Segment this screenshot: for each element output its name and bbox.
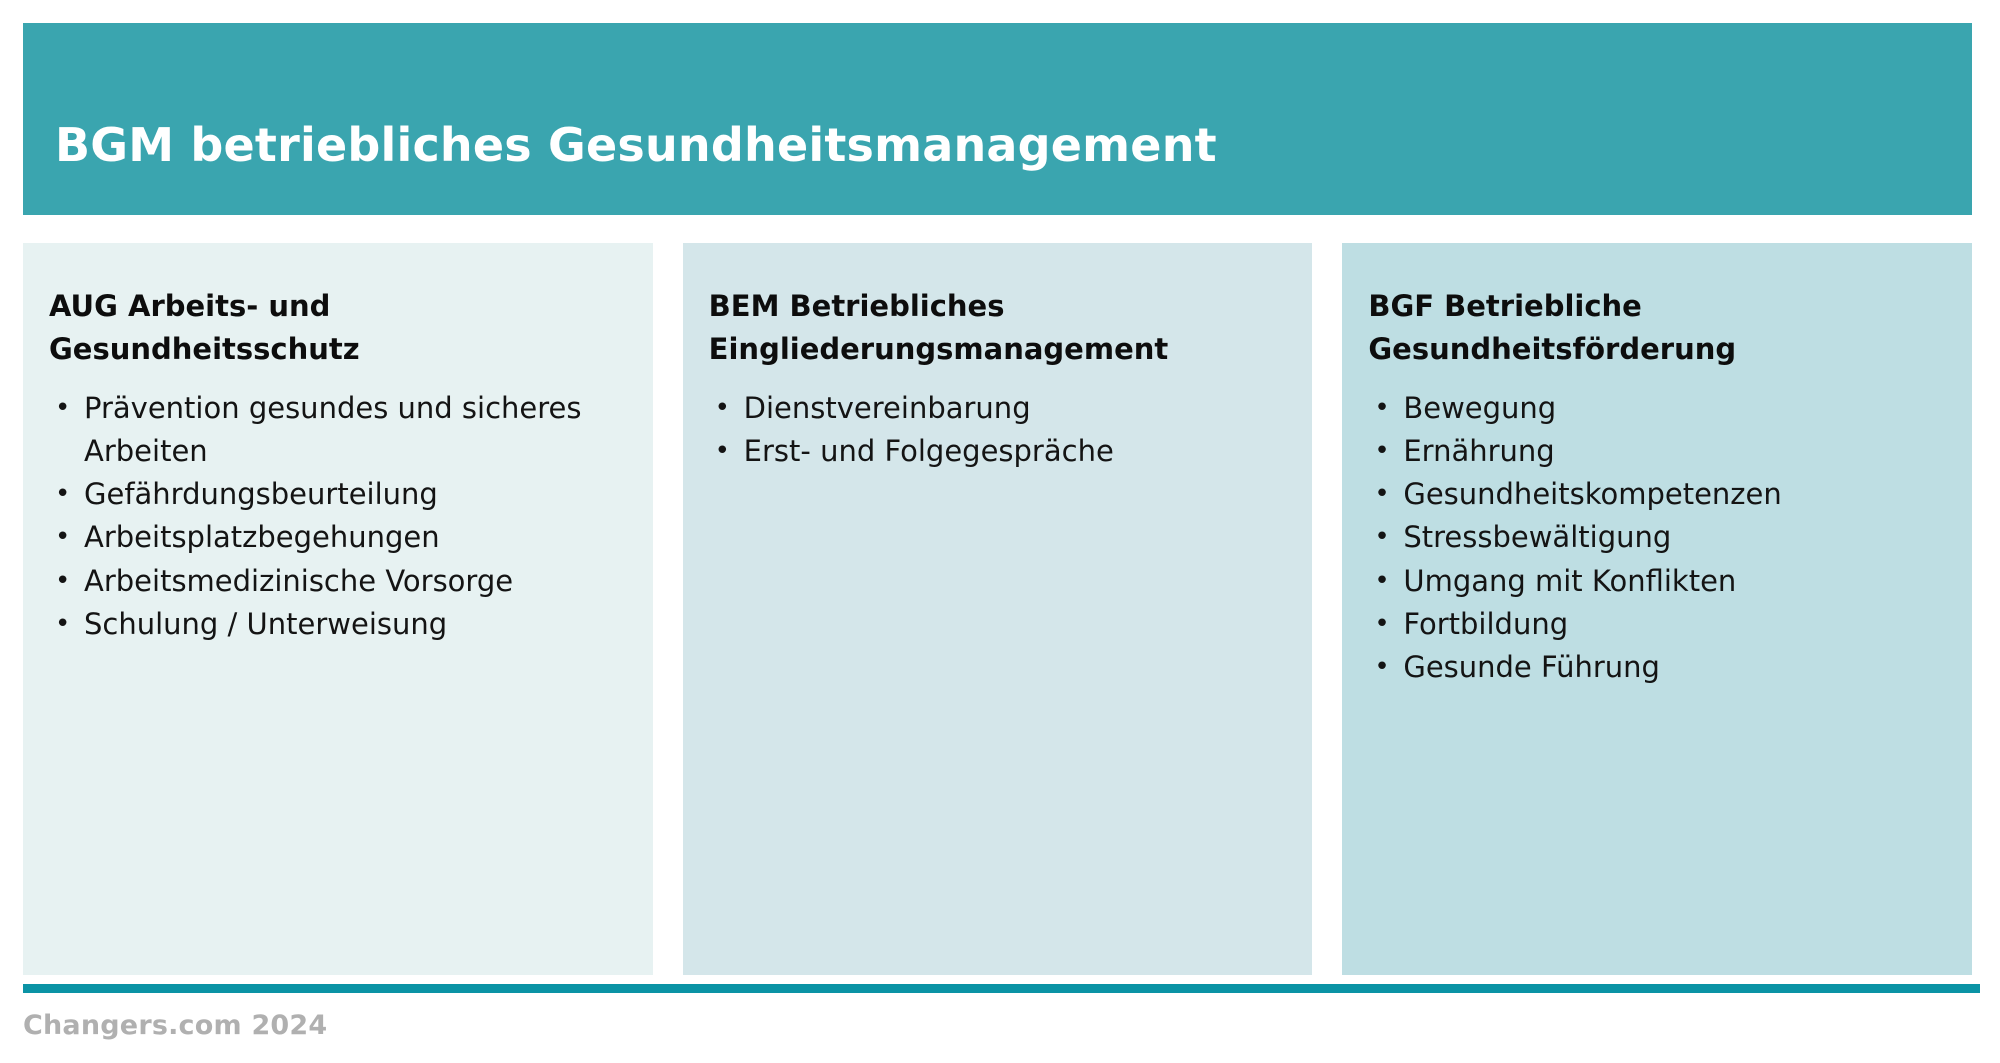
- list-item: Arbeitsmedizinische Vorsorge: [49, 560, 627, 603]
- bullet-list-bgf: Bewegung Ernährung Gesundheitskompetenze…: [1368, 387, 1946, 689]
- list-item: Fortbildung: [1368, 603, 1946, 646]
- card-title-bgf: BGF Betriebliche Gesundheitsförderung: [1368, 285, 1798, 371]
- list-item: Erst- und Folgegespräche: [709, 430, 1287, 473]
- list-item: Gesundheitskompetenzen: [1368, 473, 1946, 516]
- header-band: BGM betriebliches Gesundheitsmanagement: [23, 23, 1972, 215]
- bullet-list-bem: Dienstvereinbarung Erst- und Folgegesprä…: [709, 387, 1287, 473]
- list-item: Ernährung: [1368, 430, 1946, 473]
- footer-divider: [23, 984, 1980, 993]
- list-item: Arbeitsplatzbegehungen: [49, 516, 627, 559]
- list-item: Bewegung: [1368, 387, 1946, 430]
- card-title-aug: AUG Arbeits- und Gesundheitsschutz: [49, 285, 479, 371]
- card-row: AUG Arbeits- und Gesundheitsschutz Präve…: [23, 243, 1972, 975]
- card-bgf: BGF Betriebliche Gesundheitsförderung Be…: [1342, 243, 1972, 975]
- list-item: Dienstvereinbarung: [709, 387, 1287, 430]
- list-item: Stressbewältigung: [1368, 516, 1946, 559]
- list-item: Schulung / Unterweisung: [49, 603, 627, 646]
- list-item: Gesunde Führung: [1368, 646, 1946, 689]
- card-bem: BEM Betriebliches Eingliederungsmanageme…: [683, 243, 1313, 975]
- slide-canvas: BGM betriebliches Gesundheitsmanagement …: [0, 0, 2000, 1063]
- page-title: BGM betriebliches Gesundheitsmanagement: [23, 120, 1217, 215]
- footer-credit: Changers.com 2024: [23, 1010, 327, 1041]
- bullet-list-aug: Prävention gesundes und sicheres Arbeite…: [49, 387, 627, 646]
- list-item: Umgang mit Konflikten: [1368, 560, 1946, 603]
- card-title-bem: BEM Betriebliches Eingliederungsmanageme…: [709, 285, 1139, 371]
- list-item: Prävention gesundes und sicheres Arbeite…: [49, 387, 627, 473]
- card-aug: AUG Arbeits- und Gesundheitsschutz Präve…: [23, 243, 653, 975]
- list-item: Gefährdungsbeurteilung: [49, 473, 627, 516]
